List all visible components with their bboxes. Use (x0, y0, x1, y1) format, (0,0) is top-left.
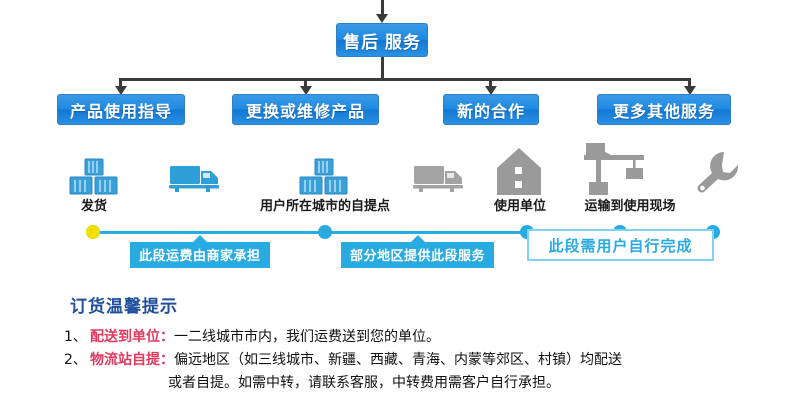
flow-leaf-product-guide[interactable]: 产品使用指导 (57, 94, 185, 125)
note-text-2: 偏远地区（如三线城市、新疆、西藏、青海、内蒙等郊区、村镇）均配送 (174, 352, 622, 368)
callout-text: 此段运费由商家承担 (139, 249, 261, 264)
icon-label-transport-to-site: 运输到使用现场 (584, 195, 675, 214)
note-item-2: 2、 物流站自提：偏远地区（如三线城市、新疆、西藏、青海、内蒙等郊区、村镇）均配… (64, 350, 764, 371)
boxes-blue-icon (68, 158, 120, 196)
truck-gray-icon (412, 163, 468, 195)
callout-text-2: 部分地区提供此段服务 (350, 249, 485, 264)
crane-gray-icon (578, 142, 648, 196)
root-top-arrow (376, 14, 388, 23)
wrench-gray-icon (694, 150, 740, 196)
note-key-2: 物流站自提： (90, 352, 174, 368)
note-item-2-continuation: 或者自提。如需中转，请联系客服，中转费用需客户自行承担。 (64, 373, 764, 394)
note-text-2-cont: 或者自提。如需中转，请联系客服，中转费用需客户自行承担。 (168, 373, 560, 394)
root-bottom-connector (381, 57, 384, 79)
icon-label-pickup-point: 用户所在城市的自提点 (260, 195, 390, 214)
flow-leaf-replace-repair[interactable]: 更换或维修产品 (232, 94, 379, 125)
icon-label-use-unit: 使用单位 (494, 195, 546, 214)
callout-partial-region: 部分地区提供此段服务 (341, 242, 494, 268)
flow-root-box[interactable]: 售后 服务 (336, 23, 428, 57)
note-body-1: 配送到单位：一二线城市市内，我们运费送到您的单位。 (90, 327, 764, 348)
callout-merchant-pays: 此段运费由商家承担 (130, 242, 270, 268)
timeline-dot-pickup[interactable] (318, 225, 332, 239)
note-body-2: 物流站自提：偏远地区（如三线城市、新疆、西藏、青海、内蒙等郊区、村镇）均配送 (90, 350, 764, 371)
timeline-dot-start[interactable] (86, 225, 100, 239)
notes-title: 订货温馨提示 (70, 292, 764, 317)
note-text-1: 一二线城市市内，我们运费送到您的单位。 (174, 329, 440, 345)
truck-blue-icon (168, 163, 224, 195)
note-number-1: 1、 (64, 327, 90, 348)
icon-label-shipping: 发货 (81, 195, 107, 214)
callout-nub-icon (193, 235, 207, 242)
note-item-1: 1、 配送到单位：一二线城市市内，我们运费送到您的单位。 (64, 327, 764, 348)
flow-horizontal-bus (120, 78, 690, 81)
notes-section: 订货温馨提示 1、 配送到单位：一二线城市市内，我们运费送到您的单位。 2、 物… (64, 292, 764, 396)
flow-leaf-more-services[interactable]: 更多其他服务 (597, 94, 731, 125)
note-key-1: 配送到单位： (90, 329, 174, 345)
house-gray-icon (496, 148, 542, 196)
callout-user-completes: 此段需用户自行完成 (527, 229, 714, 261)
boxes-blue-icon-2 (298, 158, 350, 196)
diagram-canvas: 售后 服务 产品使用指导 更换或维修产品 新的合作 更多其他服务 (0, 0, 790, 412)
callout-nub-icon-2 (411, 235, 425, 242)
note-number-2: 2、 (64, 350, 90, 371)
flow-leaf-new-cooperation[interactable]: 新的合作 (443, 94, 539, 125)
